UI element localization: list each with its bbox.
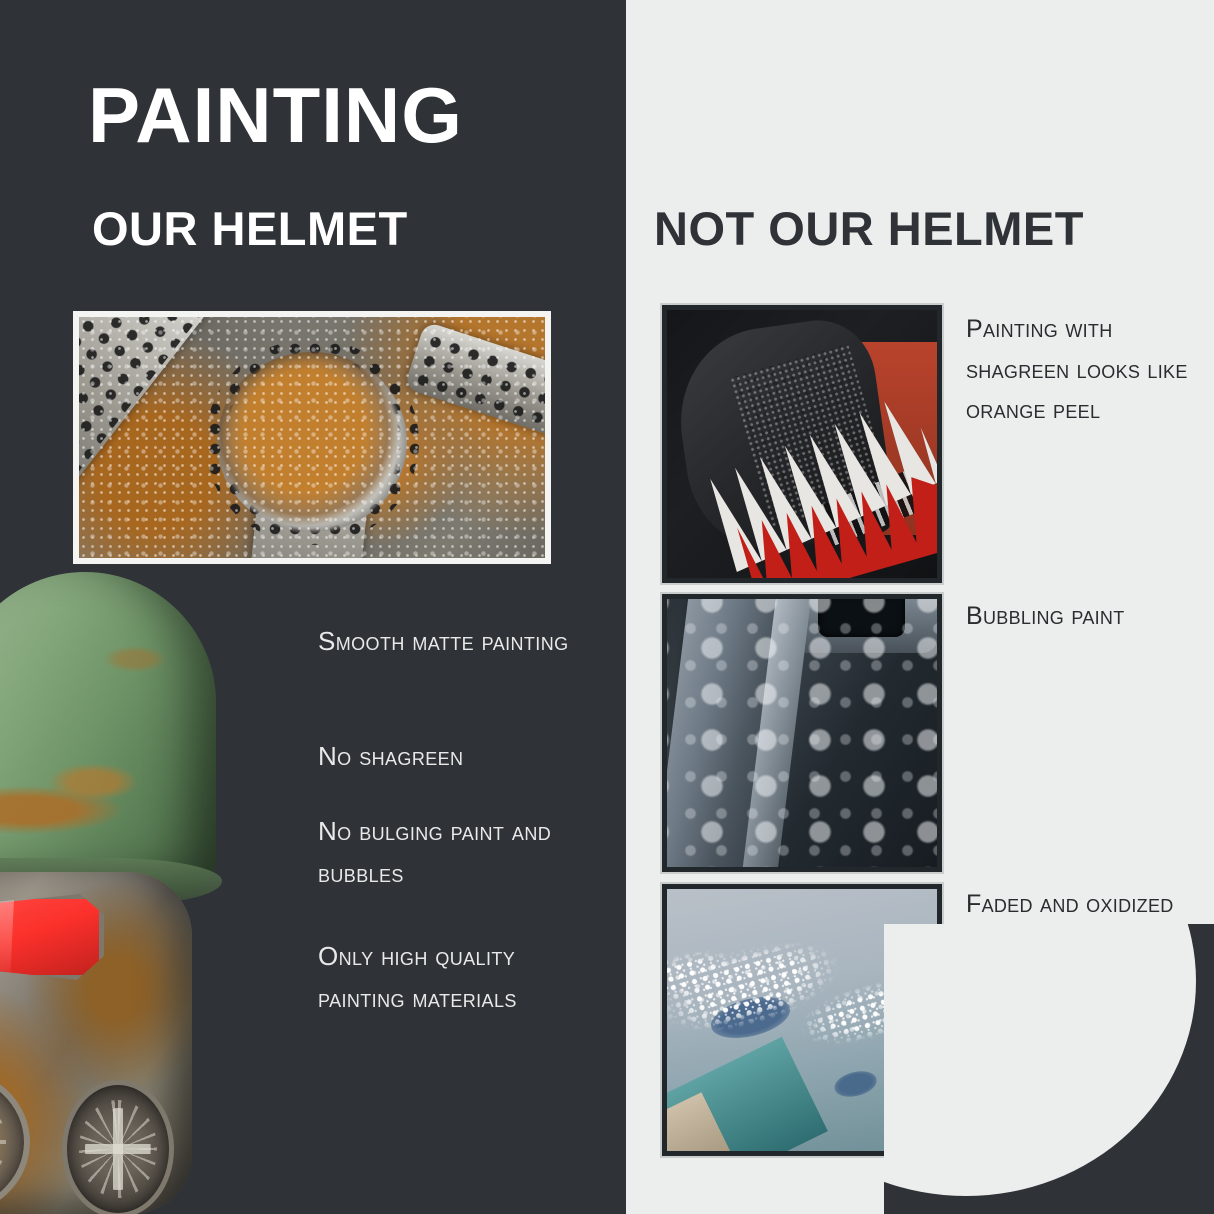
- helmet-rust-patch-mid: [50, 764, 136, 800]
- valve-photo-inner: [79, 317, 545, 558]
- not-our-helmet-photo-2: [662, 594, 942, 872]
- benefit-item-4: Only high quality painting materials: [318, 935, 578, 1019]
- defect-caption-2: Bubbling paint: [966, 596, 1196, 637]
- ranger-helmet-photo: [0, 572, 254, 1214]
- shark-photo-inner: [667, 310, 937, 578]
- not-our-helmet-photo-3: [662, 884, 942, 1156]
- filter-left-spokes: [0, 1090, 6, 1193]
- page-title: PAINTING: [88, 76, 463, 154]
- helmet-filter-left: [0, 1068, 30, 1214]
- benefit-item-3: No bulging paint and bubbles: [318, 810, 578, 894]
- bubble-photo-inner: [667, 599, 937, 867]
- valve-speckle-overlay: [79, 317, 545, 558]
- infographic-stage: PAINTING OUR HELMET: [0, 0, 1214, 1214]
- helmet-red-visor: [0, 894, 104, 980]
- helmet-gasmask-face: [0, 872, 192, 1214]
- benefit-item-1: Smooth matte painting: [318, 620, 578, 662]
- helmet-dome: [0, 572, 216, 892]
- helmet-filter-right: [62, 1080, 174, 1214]
- helmet-rust-patch-top: [104, 646, 166, 672]
- benefit-item-2: No shagreen: [318, 735, 578, 777]
- paint-bubbles-small: [667, 599, 937, 867]
- oxidized-photo-inner: [667, 889, 937, 1151]
- filter-right-cross: [85, 1108, 150, 1190]
- right-column-heading: NOT OUR HELMET: [654, 205, 1084, 252]
- defect-caption-1: Painting with shagreen looks like orange…: [966, 309, 1196, 431]
- left-column-heading: OUR HELMET: [92, 205, 408, 252]
- our-helmet-detail-photo: [73, 311, 551, 564]
- defect-caption-3: Faded and oxidized paint: [966, 884, 1196, 965]
- not-our-helmet-photo-1: [662, 305, 942, 583]
